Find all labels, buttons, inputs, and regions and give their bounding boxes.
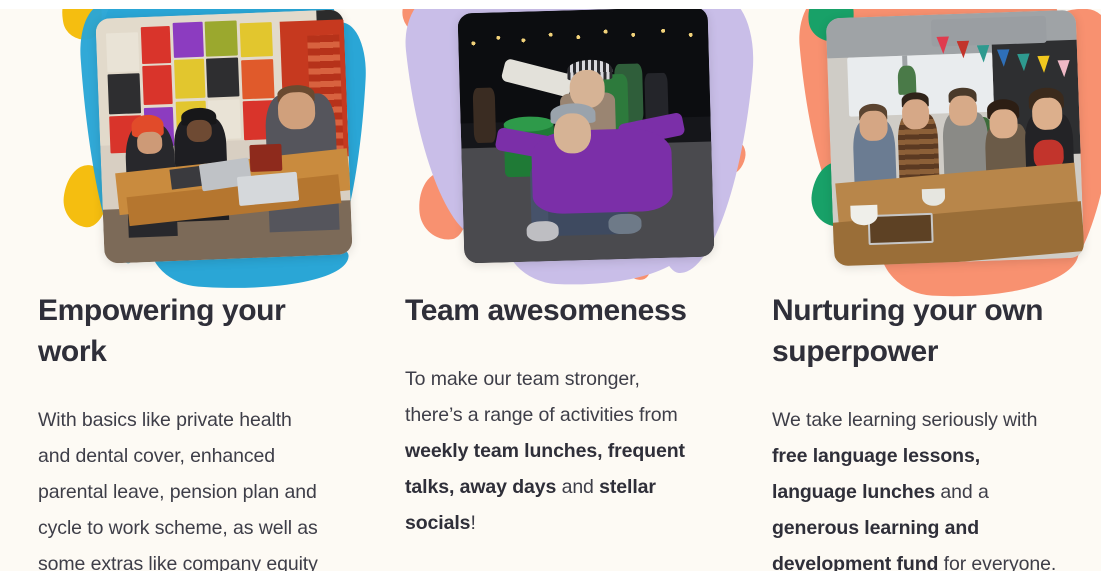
benefit-photo-3: [826, 10, 1085, 267]
benefit-text-1: Empowering your work With basics like pr…: [38, 290, 329, 571]
benefit-photo-2: [458, 7, 715, 264]
benefit-photo-3-canvas: [826, 10, 1085, 267]
benefit-photo-1-canvas: [95, 9, 352, 263]
page-top-strip: [0, 0, 1101, 9]
benefit-text-2: Team awesomeness To make our team strong…: [405, 290, 696, 541]
benefit-title-2: Team awesomeness: [405, 290, 696, 331]
benefit-body-1: With basics like private health and dent…: [38, 402, 329, 571]
benefit-title-1: Empowering your work: [38, 290, 318, 372]
benefit-media-3: [772, 0, 1063, 290]
benefit-photo-1: [95, 9, 352, 263]
benefit-title-3: Nurturing your own superpower: [772, 290, 1063, 372]
benefit-media-1: [38, 0, 329, 290]
benefit-card-team-awesomeness: Team awesomeness To make our team strong…: [367, 0, 734, 571]
benefit-card-nurturing-your-own-superpower: Nurturing your own superpower We take le…: [734, 0, 1101, 571]
benefit-media-2: [405, 0, 696, 290]
benefit-text-3: Nurturing your own superpower We take le…: [772, 290, 1063, 571]
benefit-photo-2-canvas: [458, 7, 715, 264]
benefits-section: Empowering your work With basics like pr…: [0, 0, 1101, 571]
benefits-column-grid: Empowering your work With basics like pr…: [0, 0, 1101, 571]
benefit-body-2: To make our team stronger, there’s a ran…: [405, 361, 696, 541]
benefit-card-empowering-your-work: Empowering your work With basics like pr…: [0, 0, 367, 571]
benefit-body-3: We take learning seriously with free lan…: [772, 402, 1063, 571]
